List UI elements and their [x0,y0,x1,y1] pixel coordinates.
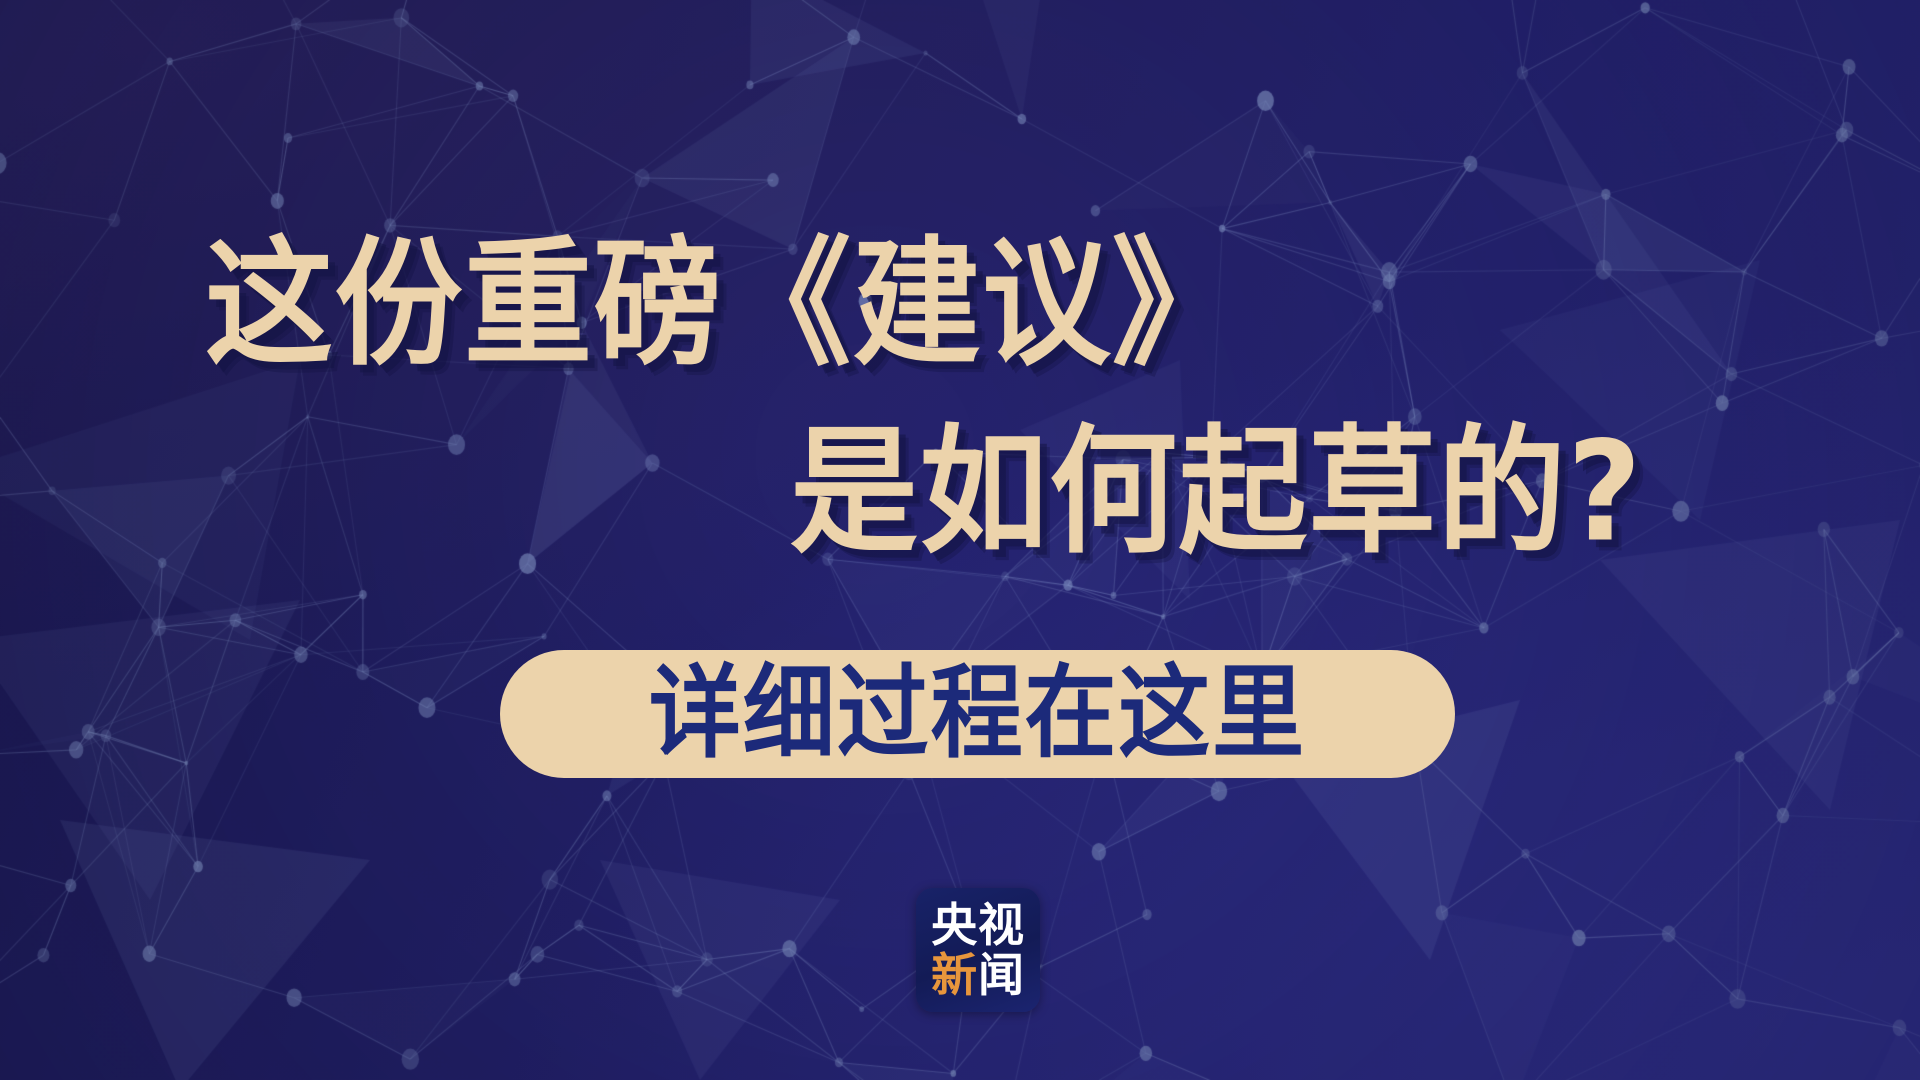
cctv-news-logo[interactable]: 央 视 新 闻 [916,888,1040,1012]
logo-char-yang: 央 [931,902,978,948]
headline-line-2: 是如何起草的? [790,424,1643,562]
cta-pill-label: 详细过程在这里 [649,663,1306,764]
headline-line-1: 这份重磅《建议》 [205,236,1241,374]
logo-top-row: 央 视 [931,902,1025,948]
logo-char-shi: 视 [978,902,1025,948]
poster-canvas: 这份重磅《建议》 是如何起草的? 详细过程在这里 央 视 新 闻 [0,0,1920,1080]
logo-char-xin: 新 [931,952,978,998]
cta-pill-button[interactable]: 详细过程在这里 [500,650,1455,778]
logo-bottom-row: 新 闻 [931,952,1025,998]
logo-char-wen: 闻 [978,952,1025,998]
